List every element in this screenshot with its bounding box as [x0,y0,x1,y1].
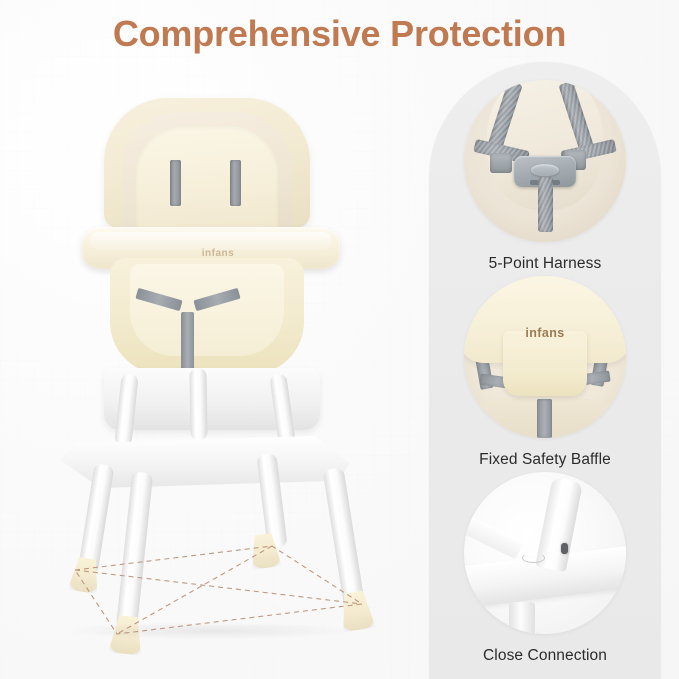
feature-connection: Close Connection [429,472,661,665]
shoulder-strap-right [230,160,241,206]
harness-adjuster-left [490,153,512,173]
crotch-strap [181,312,194,370]
product-image-highchair: infans [18,82,418,662]
product-feature-graphic: Comprehensive Protection infans [0,0,679,679]
joint-screw-icon [561,543,568,554]
feature-harness: 5-Point Harness [429,80,661,273]
page-title: Comprehensive Protection [0,13,679,55]
seat-cushion-inner [130,264,284,356]
baffle-crotch-strap [537,399,552,438]
leg-joint-icon [464,472,626,634]
baffle-brand-logo: infans [464,326,626,340]
baffle-tongue [503,331,587,396]
leg-upper-middle [189,368,207,440]
harness-release-button [531,164,559,176]
feature-caption-connection: Close Connection [429,647,661,665]
safety-baffle-icon: infans [464,276,626,438]
feature-caption-baffle: Fixed Safety Baffle [429,451,661,469]
joint-leg-lower [509,602,535,634]
leg-front-left [116,471,153,630]
harness-crotch-strap [538,177,553,232]
backrest-inner-cushion [136,126,278,234]
harness-buckle-icon [464,80,626,242]
feature-caption-harness: 5-Point Harness [429,255,661,273]
feature-panel: 5-Point Harness infans Fixed Safety Baff… [429,62,661,679]
feature-baffle: infans Fixed Safety Baffle [429,276,661,469]
floor-shadow [60,622,360,640]
shoulder-strap-left [170,160,181,206]
